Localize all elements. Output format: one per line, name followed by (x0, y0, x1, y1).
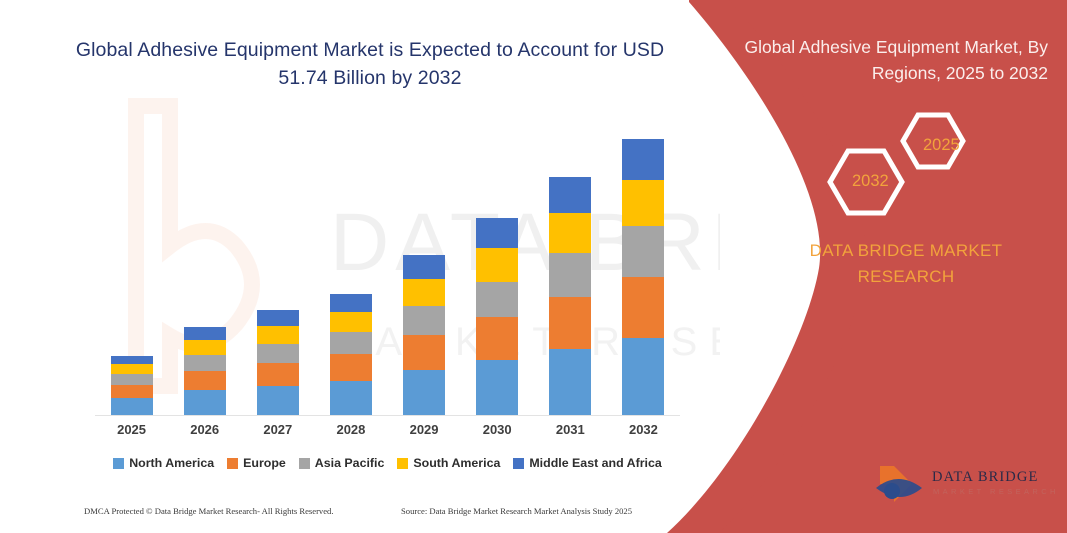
stacked-bar (622, 139, 664, 415)
bar-segment (476, 317, 518, 360)
bar-segment (403, 370, 445, 415)
bar-segment (184, 355, 226, 371)
bar-column (461, 124, 533, 415)
bar-segment (111, 398, 153, 415)
x-axis-tick-label: 2030 (461, 422, 533, 437)
legend-item[interactable]: Middle East and Africa (513, 456, 661, 470)
stacked-bar (257, 310, 299, 415)
bar-segment (330, 332, 372, 354)
bar-segment (622, 180, 664, 226)
bar-segment (622, 338, 664, 415)
logo-subtitle-text: MARKET RESEARCH (933, 487, 1059, 496)
legend-swatch-icon (299, 458, 310, 469)
bar-segment (257, 344, 299, 363)
legend-swatch-icon (113, 458, 124, 469)
bar-segment (111, 364, 153, 374)
x-axis-tick-label: 2026 (169, 422, 241, 437)
bar-segment (184, 390, 226, 415)
bar-segment (403, 255, 445, 279)
stacked-bar (476, 218, 518, 415)
bar-segment (257, 326, 299, 344)
stacked-bar-chart (95, 120, 680, 415)
chart-axis-line (95, 415, 680, 416)
stacked-bar (184, 327, 226, 415)
footer: DMCA Protected © Data Bridge Market Rese… (0, 506, 700, 528)
bar-column (242, 124, 314, 415)
bar-segment (111, 374, 153, 385)
bar-segment (476, 218, 518, 248)
bar-segment (622, 277, 664, 338)
chart-legend: North AmericaEuropeAsia PacificSouth Ame… (95, 456, 680, 470)
bar-segment (622, 139, 664, 180)
legend-label: South America (413, 456, 500, 470)
legend-swatch-icon (513, 458, 524, 469)
bar-column (388, 124, 460, 415)
bar-segment (111, 385, 153, 398)
chart-x-axis-labels: 20252026202720282029203020312032 (95, 422, 680, 437)
footer-source: Source: Data Bridge Market Research Mark… (401, 506, 632, 516)
legend-label: Asia Pacific (315, 456, 385, 470)
bar-segment (330, 312, 372, 332)
legend-swatch-icon (227, 458, 238, 469)
bar-segment (549, 297, 591, 349)
legend-label: Europe (243, 456, 286, 470)
bar-segment (403, 335, 445, 370)
panel-brand-name: DATA BRIDGE MARKET RESEARCH (760, 238, 1052, 290)
legend-label: North America (129, 456, 214, 470)
panel-brand-line-2: RESEARCH (760, 264, 1052, 290)
bar-segment (476, 360, 518, 415)
company-logo: DATA BRIDGE MARKET RESEARCH (872, 462, 1052, 510)
bar-segment (476, 282, 518, 317)
bar-segment (549, 177, 591, 213)
legend-item[interactable]: North America (113, 456, 214, 470)
stacked-bar (330, 294, 372, 415)
legend-item[interactable]: Europe (227, 456, 286, 470)
stacked-bar (111, 356, 153, 415)
bar-column (607, 124, 679, 415)
x-axis-tick-label: 2028 (315, 422, 387, 437)
bar-segment (111, 356, 153, 364)
bar-segment (549, 253, 591, 296)
infographic-canvas: DATA BRIDGE MARKET RESEARCH Global Adhes… (0, 0, 1067, 533)
stacked-bar (403, 255, 445, 416)
bar-segment (257, 310, 299, 326)
bar-column (534, 124, 606, 415)
bar-segment (549, 349, 591, 415)
legend-label: Middle East and Africa (529, 456, 661, 470)
x-axis-tick-label: 2031 (534, 422, 606, 437)
panel-title: Global Adhesive Equipment Market, By Reg… (718, 34, 1048, 86)
stacked-bar (549, 177, 591, 415)
bar-segment (257, 386, 299, 415)
bar-column (96, 124, 168, 415)
legend-swatch-icon (397, 458, 408, 469)
x-axis-tick-label: 2032 (607, 422, 679, 437)
bar-segment (184, 327, 226, 340)
bar-segment (330, 294, 372, 312)
chart-plot-area (95, 124, 680, 415)
footer-copyright: DMCA Protected © Data Bridge Market Rese… (84, 506, 334, 516)
legend-item[interactable]: Asia Pacific (299, 456, 385, 470)
data-bridge-logo-icon (872, 462, 928, 508)
bar-column (169, 124, 241, 415)
page-title: Global Adhesive Equipment Market is Expe… (60, 36, 680, 92)
bar-column (315, 124, 387, 415)
hexagon-label-2025: 2025 (923, 136, 960, 155)
panel-brand-line-1: DATA BRIDGE MARKET (760, 238, 1052, 264)
hexagon-group: 2032 2025 (822, 112, 992, 217)
bar-segment (622, 226, 664, 276)
bar-segment (184, 371, 226, 390)
bar-segment (403, 279, 445, 306)
bar-segment (330, 381, 372, 415)
legend-item[interactable]: South America (397, 456, 500, 470)
logo-name-text: DATA BRIDGE (932, 469, 1038, 486)
hexagon-label-2032: 2032 (852, 172, 889, 191)
x-axis-tick-label: 2027 (242, 422, 314, 437)
x-axis-tick-label: 2029 (388, 422, 460, 437)
bar-segment (403, 306, 445, 335)
x-axis-tick-label: 2025 (96, 422, 168, 437)
bar-segment (476, 248, 518, 281)
bar-segment (184, 340, 226, 355)
bar-segment (257, 363, 299, 386)
hexagon-shapes-icon (822, 112, 992, 217)
bar-segment (549, 213, 591, 253)
bar-segment (330, 354, 372, 381)
